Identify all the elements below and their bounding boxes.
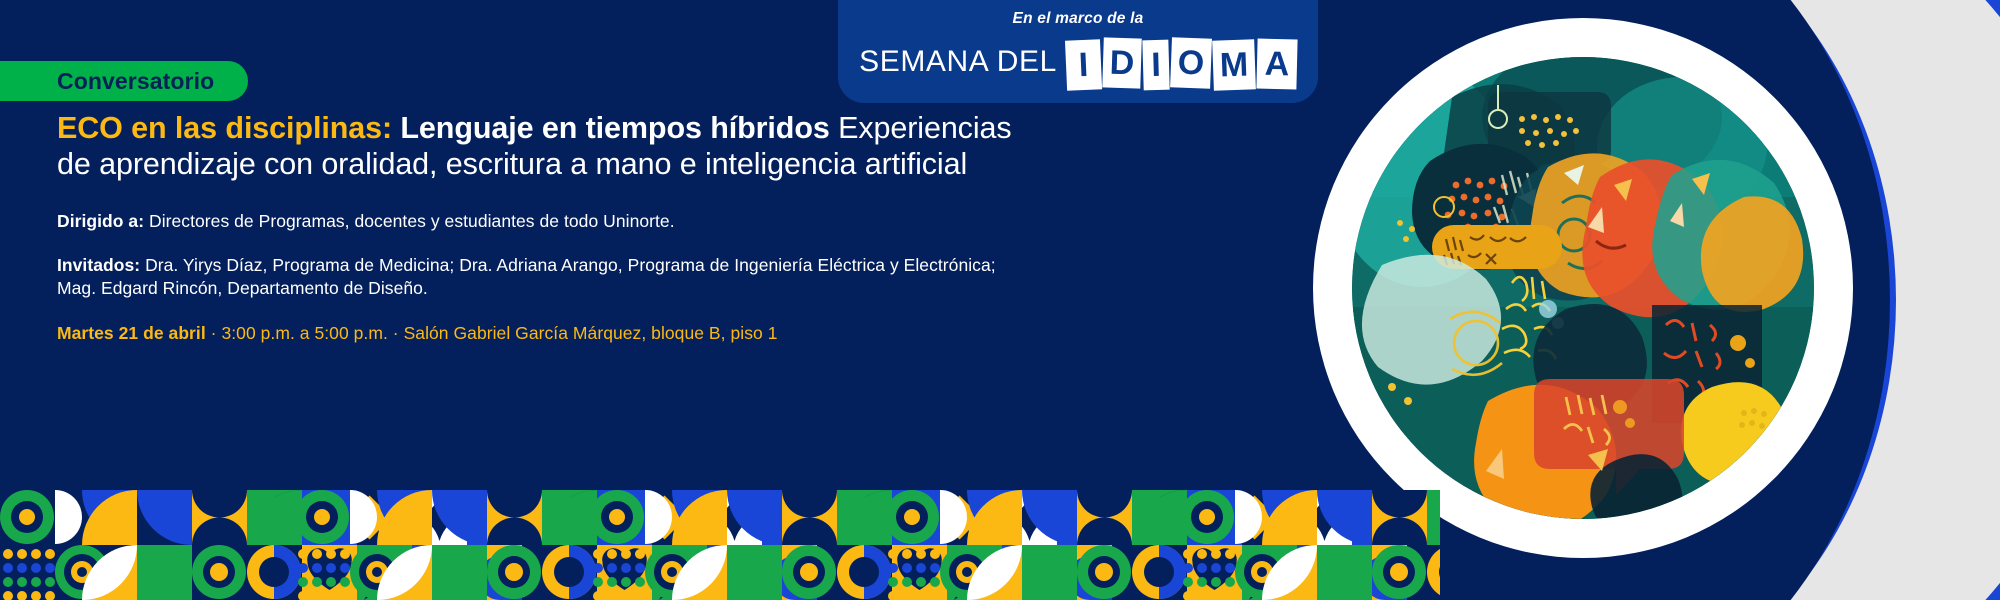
logo-letter-card: A xyxy=(1256,39,1297,90)
event-type-tag: Conversatorio xyxy=(0,61,248,101)
schedule-date: Martes 21 de abril xyxy=(57,323,206,343)
logo-wordmark: SEMANA DEL I D I O M A xyxy=(838,33,1318,95)
event-type-label: Conversatorio xyxy=(57,68,214,95)
logo-semana-del: SEMANA DEL xyxy=(859,45,1057,83)
logo-pretitle: En el marco de la xyxy=(838,10,1318,28)
banner-content: ECO en las disciplinas: Lenguaje en tiem… xyxy=(57,110,1017,363)
logo-letter-card: M xyxy=(1212,39,1256,90)
event-banner: En el marco de la SEMANA DEL I D I O M A… xyxy=(0,0,2000,600)
conversation-illustration xyxy=(1352,57,1814,519)
audience-label: Dirigido a: xyxy=(57,211,144,231)
logo-idioma-cards: I D I O M A xyxy=(1066,39,1297,89)
guests-label: Invitados: xyxy=(57,255,140,275)
audience-text: Directores de Programas, docentes y estu… xyxy=(149,211,675,231)
schedule-details: · 3:00 p.m. a 5:00 p.m. · Salón Gabriel … xyxy=(211,323,778,343)
logo-letter-card: I xyxy=(1065,39,1102,90)
schedule-line: Martes 21 de abril · 3:00 p.m. a 5:00 p.… xyxy=(57,322,1017,345)
event-title: ECO en las disciplinas: Lenguaje en tiem… xyxy=(57,110,1017,182)
geometric-pattern-strip xyxy=(0,490,1440,600)
logo-letter-card: O xyxy=(1170,37,1212,88)
audience-line: Dirigido a: Directores de Programas, doc… xyxy=(57,210,1017,233)
guests-text: Dra. Yirys Díaz, Programa de Medicina; D… xyxy=(57,255,996,298)
event-title-highlight: ECO en las disciplinas: xyxy=(57,111,392,145)
logo-letter-card: I xyxy=(1142,40,1169,91)
event-title-bold: Lenguaje en tiempos híbridos xyxy=(400,111,829,145)
semana-del-idioma-logo: En el marco de la SEMANA DEL I D I O M A xyxy=(838,0,1318,103)
guests-line: Invitados: Dra. Yirys Díaz, Programa de … xyxy=(57,254,1017,300)
logo-letter-card: D xyxy=(1102,37,1142,88)
